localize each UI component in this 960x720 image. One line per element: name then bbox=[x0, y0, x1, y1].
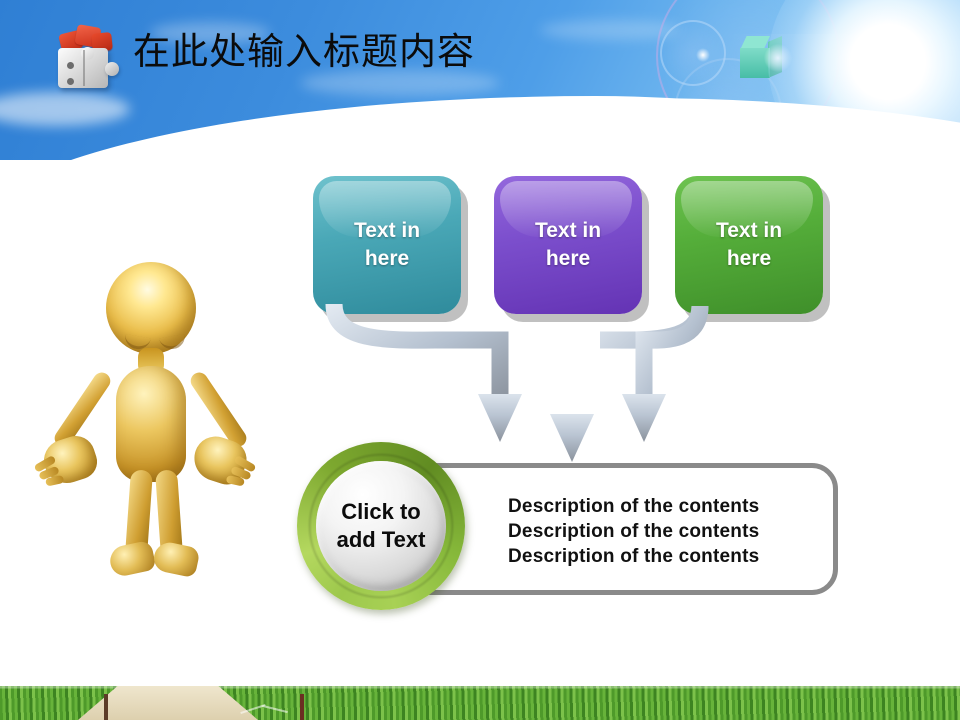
description-line: Description of the contents bbox=[508, 544, 838, 569]
footer-post-decor bbox=[104, 694, 108, 720]
grass-blade-decor bbox=[262, 705, 288, 713]
description-line: Description of the contents bbox=[508, 494, 838, 519]
slide-canvas: 在此处输入标题内容 Text inhere Text inhere Text i… bbox=[0, 0, 960, 720]
content-box-green[interactable]: Text inhere bbox=[675, 176, 823, 314]
circle-inner-disc: Click toadd Text bbox=[316, 461, 446, 591]
circle-button-label: Click toadd Text bbox=[337, 498, 426, 554]
puzzle-house-icon bbox=[48, 26, 126, 88]
description-line: Description of the contents bbox=[508, 519, 838, 544]
click-to-add-text-button[interactable]: Click toadd Text bbox=[297, 442, 465, 610]
content-box-teal[interactable]: Text inhere bbox=[313, 176, 461, 314]
content-box-purple[interactable]: Text inhere bbox=[494, 176, 642, 314]
content-box-label: Text inhere bbox=[354, 217, 420, 273]
gold-3d-character bbox=[18, 262, 278, 582]
cloud-decor bbox=[0, 92, 130, 126]
page-title: 在此处输入标题内容 bbox=[133, 29, 475, 75]
content-box-label: Text inhere bbox=[716, 217, 782, 273]
footer-post-decor bbox=[300, 694, 304, 720]
footer-grass-strip bbox=[0, 686, 960, 720]
description-text-block: Description of the contents Description … bbox=[508, 494, 838, 569]
arrow-left bbox=[360, 306, 574, 448]
content-box-label: Text inhere bbox=[535, 217, 601, 273]
